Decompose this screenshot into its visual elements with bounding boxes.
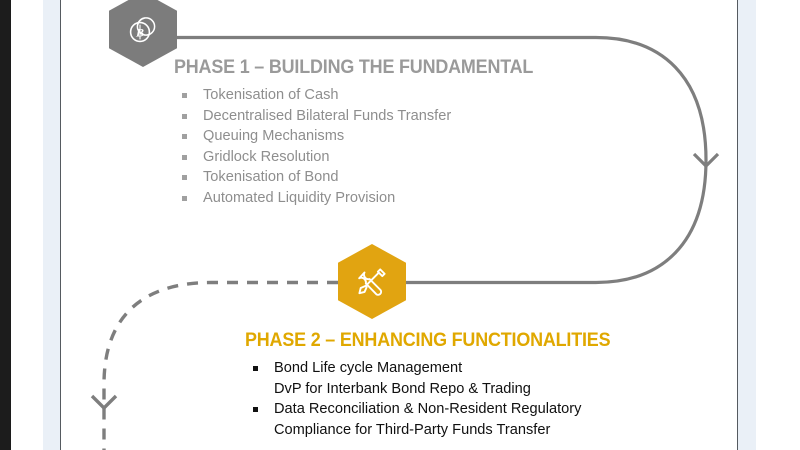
phase1-content-block: PHASE 1 – BUILDING THE FUNDAMENTAL Token… [174, 56, 624, 209]
list-item-label: Queuing Mechanisms [203, 128, 344, 144]
list-item: Bond Life cycle Management [245, 358, 705, 379]
list-item-label: DvP for Interbank Bond Repo & Trading [274, 381, 531, 397]
list-item: Data Reconciliation & Non-Resident Regul… [245, 399, 705, 420]
bullet-square-icon [182, 134, 187, 139]
wrench-screwdriver-tools-icon [353, 263, 391, 301]
bullet-square-icon [182, 196, 187, 201]
list-item-label: Compliance for Third-Party Funds Transfe… [274, 422, 550, 438]
list-item: Tokenisation of Cash [174, 85, 624, 106]
bullet-square-icon [253, 366, 258, 371]
phase-roadmap-diagram: B [61, 0, 738, 450]
list-item: Tokenisation of Bond [174, 167, 624, 188]
list-item: Queuing Mechanisms [174, 126, 624, 147]
viewer-gutter-right [738, 0, 756, 450]
list-item: Automated Liquidity Provision [174, 188, 624, 209]
viewer-gutter-left [43, 0, 60, 450]
bullet-square-icon [182, 155, 187, 160]
list-item: Compliance for Third-Party Funds Transfe… [245, 420, 705, 441]
list-item-label: Data Reconciliation & Non-Resident Regul… [274, 401, 581, 417]
list-item-label: Bond Life cycle Management [274, 360, 462, 376]
list-item-label: Tokenisation of Cash [203, 87, 338, 103]
phase1-feature-list: Tokenisation of Cash Decentralised Bilat… [174, 85, 624, 209]
coins-bitcoin-icon: B [126, 13, 160, 47]
document-viewer: B [0, 0, 800, 450]
list-item-label: Tokenisation of Bond [203, 169, 339, 185]
phase1-title: PHASE 1 – BUILDING THE FUNDAMENTAL [174, 56, 588, 79]
list-item-label: Gridlock Resolution [203, 149, 330, 165]
list-item: Gridlock Resolution [174, 147, 624, 168]
bullet-square-icon [182, 114, 187, 119]
bullet-square-icon [182, 93, 187, 98]
phase2-content-block: PHASE 2 – ENHANCING FUNCTIONALITIES Bond… [245, 329, 705, 440]
list-item: DvP for Interbank Bond Repo & Trading [245, 379, 705, 400]
bullet-square-icon [182, 175, 187, 180]
phase2-feature-list: Bond Life cycle Management DvP for Inter… [245, 358, 705, 440]
bullet-square-icon [253, 407, 258, 412]
list-item-label: Automated Liquidity Provision [203, 190, 395, 206]
slide-page: B [60, 0, 738, 450]
app-chrome-left-bar [0, 0, 11, 450]
list-item-label: Decentralised Bilateral Funds Transfer [203, 108, 451, 124]
list-item: Decentralised Bilateral Funds Transfer [174, 106, 624, 127]
phase2-title: PHASE 2 – ENHANCING FUNCTIONALITIES [245, 329, 668, 352]
